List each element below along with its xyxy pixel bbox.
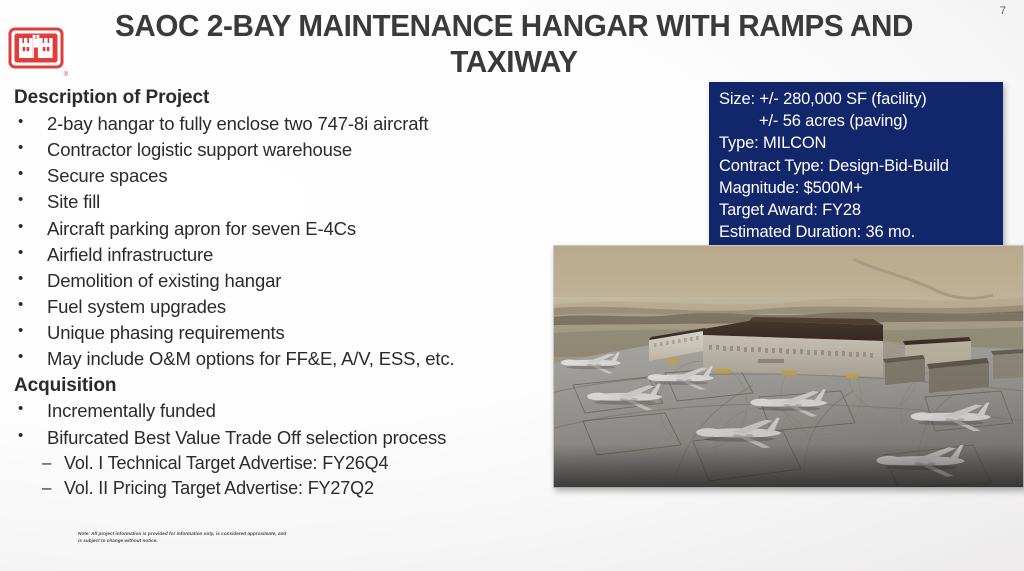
bullet-marker-icon: •: [18, 346, 23, 367]
disclaimer-note: Note: All project information is provide…: [78, 530, 288, 545]
fact-estimated-duration: Estimated Duration: 36 mo.: [719, 221, 1003, 243]
dash-marker-icon: –: [42, 476, 51, 500]
bullet-marker-icon: •: [18, 320, 23, 341]
fact-target-award: Target Award: FY28: [719, 199, 1003, 221]
dash-marker-icon: –: [42, 451, 51, 475]
list-item: •Bifurcated Best Value Trade Off selecti…: [14, 425, 574, 451]
bullet-marker-icon: •: [18, 242, 23, 263]
fact-contract-type: Contract Type: Design-Bid-Build: [719, 155, 1003, 177]
bullet-marker-icon: •: [18, 111, 23, 132]
list-item-label: Incrementally funded: [47, 400, 216, 421]
description-heading: Description of Project: [14, 86, 574, 110]
list-item: •Site fill: [14, 189, 574, 215]
bullet-marker-icon: •: [18, 189, 23, 210]
list-item-label: Airfield infrastructure: [47, 244, 213, 265]
bullet-marker-icon: •: [18, 216, 23, 237]
bullet-marker-icon: •: [18, 425, 23, 446]
bullet-marker-icon: •: [18, 398, 23, 419]
list-item-label: Demolition of existing hangar: [47, 270, 281, 291]
list-item-label: Fuel system upgrades: [47, 296, 226, 317]
registered-mark-icon: ®: [64, 72, 68, 78]
bullet-marker-icon: •: [18, 137, 23, 158]
acquisition-heading: Acquisition: [14, 374, 574, 399]
list-item: •Secure spaces: [14, 163, 574, 189]
slide-canvas: ® 7 SAOC 2-BAY MAINTENANCE HANGAR WITH R…: [0, 0, 1024, 571]
list-item: •Demolition of existing hangar: [14, 268, 574, 294]
list-item: •Unique phasing requirements: [14, 320, 574, 346]
list-item-label: May include O&M options for FF&E, A/V, E…: [47, 348, 455, 369]
list-item-label: Vol. I Technical Target Advertise: FY26Q…: [64, 453, 388, 473]
list-item: •Airfield infrastructure: [14, 242, 574, 268]
usace-castle-logo: ®: [8, 20, 64, 76]
list-item: •Incrementally funded: [14, 398, 574, 424]
acquisition-bullet-list: •Incrementally funded •Bifurcated Best V…: [14, 398, 574, 501]
list-item: •2-bay hangar to fully enclose two 747-8…: [14, 111, 574, 137]
list-item-label: Contractor logistic support warehouse: [47, 139, 352, 160]
fact-magnitude: Magnitude: $500M+: [719, 177, 1003, 199]
fact-size-line1: Size: +/- 280,000 SF (facility): [719, 88, 1003, 110]
page-number: 7: [1000, 5, 1006, 17]
list-item: •Fuel system upgrades: [14, 294, 574, 320]
list-item: •Aircraft parking apron for seven E-4Cs: [14, 216, 574, 242]
page-title: SAOC 2-BAY MAINTENANCE HANGAR WITH RAMPS…: [94, 8, 934, 80]
bullet-marker-icon: •: [18, 294, 23, 315]
project-rendering-image: [553, 245, 1024, 488]
description-bullet-list: •2-bay hangar to fully enclose two 747-8…: [14, 111, 574, 373]
list-item: •Contractor logistic support warehouse: [14, 137, 574, 163]
list-item-label: Site fill: [47, 191, 100, 212]
fact-size-line2: +/- 56 acres (paving): [719, 110, 1003, 132]
list-item-label: Bifurcated Best Value Trade Off selectio…: [47, 427, 446, 448]
left-content-column: Description of Project •2-bay hangar to …: [14, 86, 574, 502]
list-item-label: Vol. II Pricing Target Advertise: FY27Q2: [64, 478, 374, 498]
bullet-marker-icon: •: [18, 163, 23, 184]
list-item: –Vol. I Technical Target Advertise: FY26…: [14, 451, 574, 476]
list-item-label: Secure spaces: [47, 165, 167, 186]
list-item-label: 2-bay hangar to fully enclose two 747-8i…: [47, 113, 428, 134]
fact-type: Type: MILCON: [719, 132, 1003, 154]
list-item: •May include O&M options for FF&E, A/V, …: [14, 346, 574, 372]
project-facts-box: Size: +/- 280,000 SF (facility) +/- 56 a…: [709, 82, 1003, 246]
list-item-label: Aircraft parking apron for seven E-4Cs: [47, 218, 356, 239]
bullet-marker-icon: •: [18, 268, 23, 289]
list-item: –Vol. II Pricing Target Advertise: FY27Q…: [14, 476, 574, 501]
list-item-label: Unique phasing requirements: [47, 322, 285, 343]
